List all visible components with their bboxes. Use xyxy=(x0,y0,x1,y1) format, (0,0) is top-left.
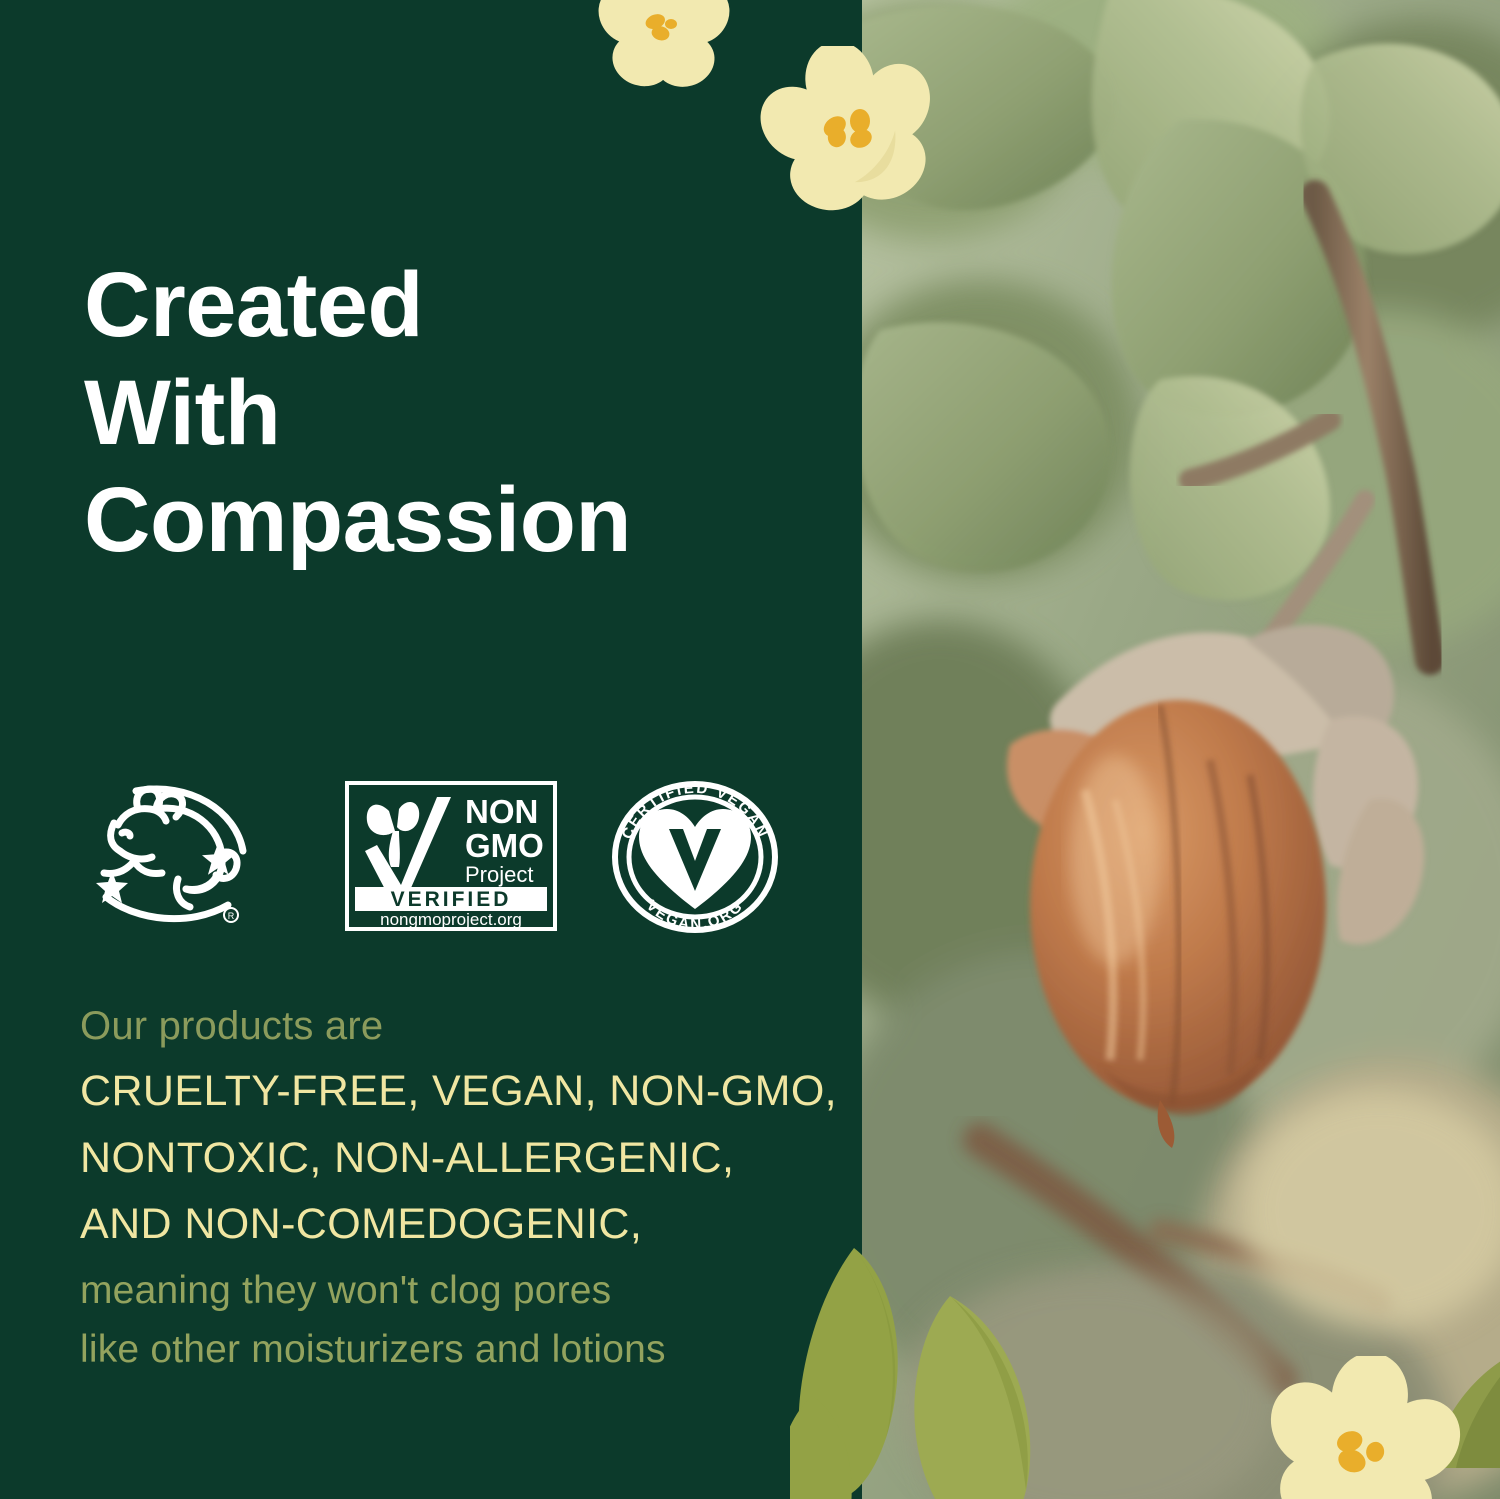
gmo-verified-label: VERIFIED xyxy=(391,888,512,911)
jojoba-photo xyxy=(860,0,1500,1499)
claims-lead-text: Our products are xyxy=(80,995,840,1058)
headline-line-1: Created xyxy=(84,252,824,360)
non-gmo-project-icon: NON GMO Project VERIFIED nongmoproject.o… xyxy=(345,781,557,931)
gmo-line-non: NON xyxy=(465,793,538,830)
gmo-url: nongmoproject.org xyxy=(380,910,522,929)
product-claims-copy: Our products are CRUELTY-FREE, VEGAN, NO… xyxy=(80,995,840,1379)
leaping-bunny-icon: R xyxy=(78,779,253,934)
headline-line-2: With xyxy=(84,360,824,468)
explanation-line-1: meaning they won't clog pores xyxy=(80,1262,840,1321)
svg-text:R: R xyxy=(228,911,235,921)
explanation-line-2: like other moisturizers and lotions xyxy=(80,1321,840,1380)
claim-line-2: NONTOXIC, NON-ALLERGENIC, xyxy=(80,1125,840,1192)
page-title: Created With Compassion xyxy=(84,252,824,575)
headline-line-3: Compassion xyxy=(84,467,824,575)
claims-explanation: meaning they won't clog pores like other… xyxy=(80,1262,840,1379)
claim-line-1: CRUELTY-FREE, VEGAN, NON-GMO, xyxy=(80,1058,840,1125)
claims-list: CRUELTY-FREE, VEGAN, NON-GMO, NONTOXIC, … xyxy=(80,1058,840,1258)
gmo-line-gmo: GMO xyxy=(465,827,544,864)
compassion-poster: Created With Compassion xyxy=(0,0,1500,1499)
gmo-line-project: Project xyxy=(465,862,533,887)
certified-vegan-icon: CERTIFIED VEGAN VEGAN.ORG xyxy=(609,779,781,934)
claim-line-3: AND NON-COMEDOGENIC, xyxy=(80,1191,840,1258)
certification-badges: R NON GMO Project xyxy=(78,776,798,936)
